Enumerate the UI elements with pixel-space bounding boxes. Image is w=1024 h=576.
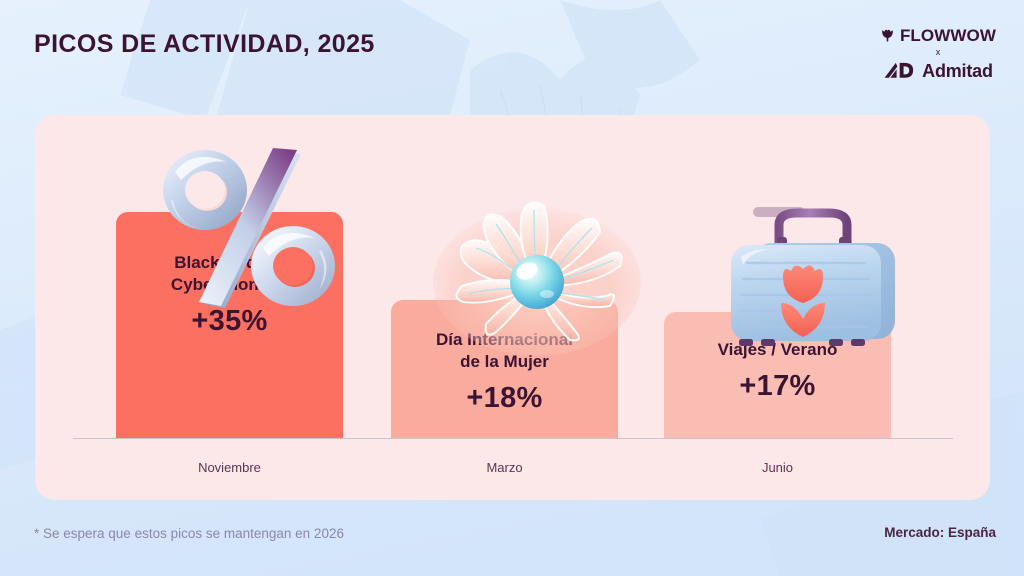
brand-admitad-label: Admitad — [922, 62, 993, 80]
brand-admitad: Admitad — [883, 61, 993, 80]
brand-flowwow: FLOWWOW — [880, 27, 996, 44]
month-label-noviembre: Noviembre — [116, 460, 343, 475]
tulip-icon — [880, 28, 895, 43]
month-label-marzo: Marzo — [391, 460, 618, 475]
bar-value-1: +18% — [466, 382, 542, 415]
month-label-junio: Junio — [664, 460, 891, 475]
bar-black-friday: Black Friday / Cyber Monday +35% — [116, 212, 343, 439]
bar-value-2: +17% — [739, 370, 815, 403]
footnote: * Se espera que estos picos se mantengan… — [34, 526, 344, 541]
bar-label-1: Día Internacional de la Mujer — [436, 329, 573, 373]
brand-lockup: FLOWWOW x Admitad — [880, 27, 996, 80]
brand-flowwow-label: FLOWWOW — [900, 27, 996, 44]
market-label: Mercado: España — [884, 525, 996, 540]
admitad-ad-mark-icon — [883, 61, 917, 80]
bar-label-0: Black Friday / Cyber Monday — [171, 252, 288, 296]
brand-separator: x — [936, 48, 941, 57]
header: PICOS DE ACTIVIDAD, 2025 FLOWWOW x Admit… — [0, 0, 1024, 115]
page-title: PICOS DE ACTIVIDAD, 2025 — [34, 30, 375, 59]
bar-dia-de-la-mujer: Día Internacional de la Mujer +18% — [391, 300, 618, 439]
bar-value-0: +35% — [191, 305, 267, 338]
bar-viajes-verano: Viajes / Verano +17% — [664, 312, 891, 439]
footer: * Se espera que estos picos se mantengan… — [0, 500, 1024, 576]
chart-panel: Black Friday / Cyber Monday +35% Día Int… — [35, 115, 990, 500]
chart-baseline — [73, 438, 953, 440]
bar-label-2: Viajes / Verano — [718, 339, 838, 361]
